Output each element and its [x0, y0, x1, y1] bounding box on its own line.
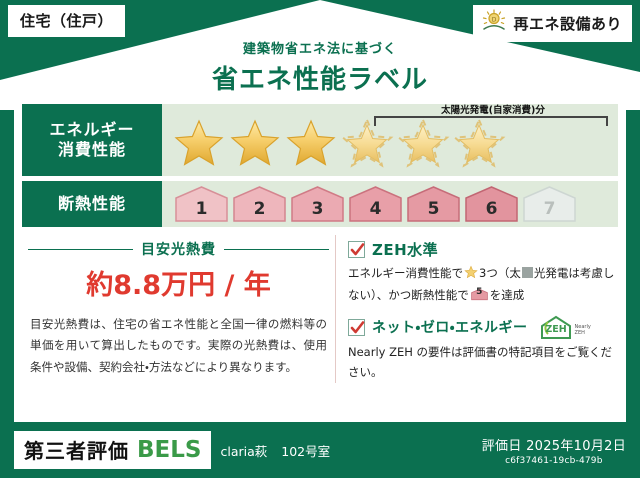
details-columns: 目安光熱費 約8.8万円 / 年 目安光熱費は、住宅の省エネ性能と全国一律の燃料…	[22, 231, 618, 383]
utility-cost-note: 目安光熱費は、住宅の省エネ性能と全国一律の燃料等の単価を用いて算出したものです。…	[28, 314, 329, 378]
insulation-performance-row: 断熱性能 1 2	[22, 181, 618, 227]
insulation-badge-5-value: 5	[428, 199, 440, 223]
evaluation-date-line: 評価日 2025年10月2日	[482, 435, 626, 454]
net-zero-text-line1: Nearly ZEH の要件は評価書の特記項目をご	[348, 345, 578, 359]
building-info: claria萩 102号室	[220, 441, 330, 460]
insulation-badge-3-value: 3	[312, 199, 324, 223]
star-filled-2	[228, 116, 282, 170]
building-name: claria萩	[220, 441, 267, 460]
label-frame: 住宅（住戸） D 再エネ設備あり 建築物省エネ法に基づ	[0, 0, 640, 478]
insulation-badge-3: 3	[290, 185, 345, 223]
star-rating	[162, 116, 506, 170]
zeh-standard-text-e: を達成	[490, 288, 525, 302]
net-zero-heading: ネット・ゼロ・エネルギー ZEH Nearly ZEH	[348, 315, 616, 339]
svg-text:D: D	[492, 16, 497, 23]
cost-note-line1: 目安光熱費は、住宅の省エネ性能と全国一律の燃料	[30, 317, 304, 331]
zeh-standard-text-c: 光発電	[534, 266, 569, 280]
energy-label-line1: エネルギー	[49, 120, 134, 140]
insulation-badge-4-value: 4	[370, 199, 382, 223]
footer-bar: 第三者評価 BELS claria萩 102号室 評価日 2025年10月2日 …	[0, 422, 640, 478]
utility-cost-heading: 目安光熱費	[28, 239, 329, 259]
checkbox-checked-icon-2	[348, 319, 365, 336]
insulation-badge-7-value: 7	[544, 199, 556, 223]
zeh-section: ZEH水準 エネルギー消費性能で3つ（太光発電は考慮しない）、かつ断熱性能で5を…	[336, 235, 618, 383]
utility-cost-value: 約8.8万円 / 年	[28, 263, 329, 302]
star-filled-3	[284, 116, 338, 170]
category-tag-label: 住宅（住戸）	[20, 12, 113, 30]
zeh-standard-text-b: 3つ（太	[479, 266, 521, 280]
insulation-performance-label: 断熱性能	[22, 181, 162, 227]
zeh-standard-heading: ZEH水準	[348, 239, 616, 260]
inline-insulation-badge: 5	[471, 288, 488, 301]
zeh-logo-sub2: ZEH	[575, 330, 585, 336]
label-card: エネルギー 消費性能 太陽光発電(自家消費)分	[14, 98, 626, 422]
redacted-character-icon	[522, 267, 533, 278]
insulation-badge-1-value: 1	[196, 199, 208, 223]
energy-performance-row: エネルギー 消費性能 太陽光発電(自家消費)分	[22, 104, 618, 176]
net-zero-block: ネット・ゼロ・エネルギー ZEH Nearly ZEH	[348, 315, 616, 382]
insulation-performance-body: 1 2 3	[162, 181, 618, 227]
inline-star-icon	[464, 268, 478, 282]
zeh-standard-block: ZEH水準 エネルギー消費性能で3つ（太光発電は考慮しない）、かつ断熱性能で5を…	[348, 239, 616, 305]
bels-logo-text: BELS	[137, 437, 201, 463]
third-party-label: 第三者評価	[24, 435, 129, 464]
energy-performance-label: エネルギー 消費性能	[22, 104, 162, 176]
insulation-badge-5: 5	[406, 185, 461, 223]
insulation-label-text: 断熱性能	[58, 194, 126, 214]
bels-chip: 第三者評価 BELS	[14, 431, 211, 469]
insulation-badge-6-value: 6	[486, 199, 498, 223]
insulation-badge-2-value: 2	[254, 199, 266, 223]
utility-cost-section: 目安光熱費 約8.8万円 / 年 目安光熱費は、住宅の省エネ性能と全国一律の燃料…	[22, 235, 336, 383]
insulation-badge-7: 7	[522, 185, 577, 223]
energy-performance-body: 太陽光発電(自家消費)分	[162, 104, 618, 176]
rule-right	[224, 249, 329, 250]
building-unit: 102号室	[281, 441, 330, 460]
star-solar-5	[396, 116, 450, 170]
utility-cost-heading-text: 目安光熱費	[141, 239, 216, 259]
insulation-badge-4: 4	[348, 185, 403, 223]
zeh-standard-title: ZEH水準	[372, 239, 438, 260]
star-filled-1	[172, 116, 226, 170]
title-main: 省エネ性能ラベル	[0, 59, 640, 96]
evaluation-date-block: 評価日 2025年10月2日 c6f37461-19cb-479b	[482, 435, 626, 466]
zeh-standard-text-a: エネルギー消費性能で	[348, 266, 463, 280]
checkbox-checked-icon	[348, 241, 365, 258]
solar-bracket-caption: 太陽光発電(自家消費)分	[374, 102, 612, 116]
star-solar-4	[340, 116, 394, 170]
insulation-badge-1: 1	[174, 185, 229, 223]
net-zero-text: Nearly ZEH の要件は評価書の特記項目をご覧ください。	[348, 342, 616, 382]
page-title: 建築物省エネ法に基づく 省エネ性能ラベル	[0, 38, 640, 96]
insulation-badge-6: 6	[464, 185, 519, 223]
rule-left	[28, 249, 133, 250]
renewable-energy-label: 再エネ設備あり	[513, 13, 622, 34]
evaluation-date-value: 2025年10月2日	[526, 439, 626, 454]
sun-renewable-icon: D	[481, 9, 507, 37]
inline-insulation-badge-value: 5	[471, 285, 488, 301]
certificate-id: c6f37461-19cb-479b	[482, 456, 626, 466]
zeh-standard-text: エネルギー消費性能で3つ（太光発電は考慮しない）、かつ断熱性能で5を達成	[348, 263, 616, 305]
insulation-badge-2: 2	[232, 185, 287, 223]
zeh-logo-text: ZEH	[545, 324, 566, 335]
energy-label-line2: 消費性能	[58, 140, 126, 160]
renewable-energy-tag: D 再エネ設備あり	[473, 5, 632, 42]
insulation-level-badges: 1 2 3	[162, 185, 577, 223]
evaluation-date-label: 評価日	[482, 439, 522, 454]
category-tag: 住宅（住戸）	[8, 5, 125, 37]
zeh-house-logo-icon: ZEH Nearly ZEH	[539, 315, 591, 339]
net-zero-title: ネット・ゼロ・エネルギー	[372, 317, 528, 337]
star-solar-6	[452, 116, 506, 170]
